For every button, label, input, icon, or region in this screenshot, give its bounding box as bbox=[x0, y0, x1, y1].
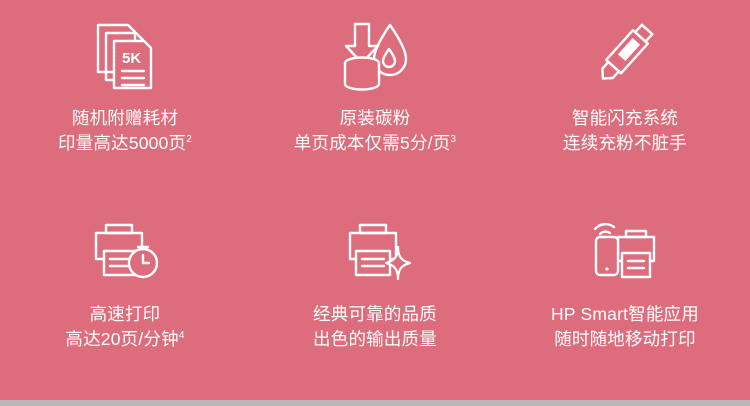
feature-caption: 经典可靠的品质 出色的输出质量 bbox=[313, 302, 437, 352]
feature-caption-line1: 原装碳粉 bbox=[294, 106, 456, 131]
stacked-pages-5k-icon: 5K bbox=[82, 8, 168, 100]
feature-item-print-quality: 经典可靠的品质 出色的输出质量 bbox=[250, 204, 500, 400]
feature-caption-line1: HP Smart智能应用 bbox=[551, 302, 699, 327]
feature-item-supplies: 5K 随机附赠耗材 印量高达5000页2 bbox=[0, 8, 250, 204]
feature-grid: 5K 随机附赠耗材 印量高达5000页2 bbox=[0, 0, 750, 400]
feature-item-toner-cost: 原装碳粉 单页成本仅需5分/页3 bbox=[250, 8, 500, 204]
footnote-marker: 3 bbox=[450, 134, 456, 145]
printer-sparkle-icon bbox=[332, 204, 418, 296]
feature-caption-line2: 印量高达5000页2 bbox=[58, 131, 192, 156]
bottom-strip bbox=[0, 400, 750, 406]
feature-caption-line2: 高达20页/分钟4 bbox=[65, 327, 184, 352]
printer-stopwatch-icon bbox=[82, 204, 168, 296]
feature-item-print-speed: 高速打印 高达20页/分钟4 bbox=[0, 204, 250, 400]
feature-caption-line2: 出色的输出质量 bbox=[313, 327, 437, 352]
feature-item-smart-refill: 智能闪充系统 连续充粉不脏手 bbox=[500, 8, 750, 204]
feature-caption: 随机附赠耗材 印量高达5000页2 bbox=[58, 106, 192, 156]
feature-caption-line2: 单页成本仅需5分/页3 bbox=[294, 131, 456, 156]
toner-syringe-icon bbox=[582, 8, 668, 100]
feature-caption-line1: 随机附赠耗材 bbox=[58, 106, 192, 131]
toner-refill-drop-icon bbox=[332, 8, 418, 100]
feature-caption-line1: 智能闪充系统 bbox=[563, 106, 687, 131]
feature-caption-line1: 高速打印 bbox=[65, 302, 184, 327]
feature-caption: 智能闪充系统 连续充粉不脏手 bbox=[563, 106, 687, 156]
footnote-marker: 4 bbox=[179, 330, 185, 341]
feature-caption: 高速打印 高达20页/分钟4 bbox=[65, 302, 184, 352]
feature-caption: 原装碳粉 单页成本仅需5分/页3 bbox=[294, 106, 456, 156]
feature-caption-line2: 随时随地移动打印 bbox=[551, 327, 699, 352]
feature-caption-line1: 经典可靠的品质 bbox=[313, 302, 437, 327]
footnote-marker: 2 bbox=[186, 134, 192, 145]
feature-caption-line2: 连续充粉不脏手 bbox=[563, 131, 687, 156]
icon-5k-label: 5K bbox=[122, 50, 141, 67]
feature-banner: 5K 随机附赠耗材 印量高达5000页2 bbox=[0, 0, 750, 400]
feature-item-mobile-printing: HP Smart智能应用 随时随地移动打印 bbox=[500, 204, 750, 400]
mobile-printing-icon bbox=[582, 204, 668, 296]
feature-caption: HP Smart智能应用 随时随地移动打印 bbox=[551, 302, 699, 352]
